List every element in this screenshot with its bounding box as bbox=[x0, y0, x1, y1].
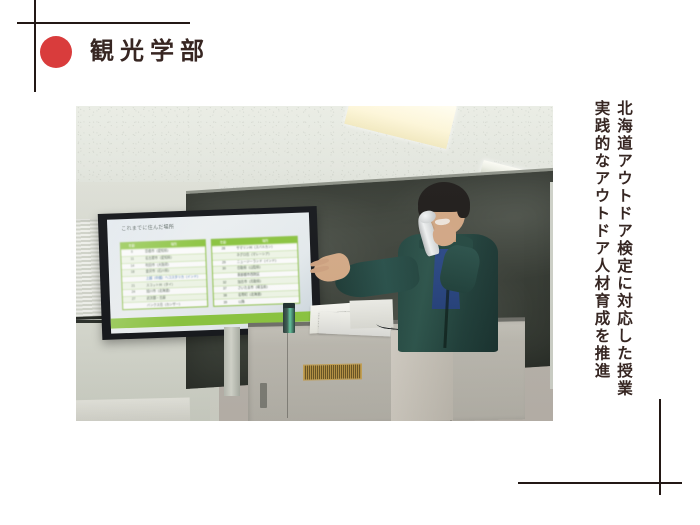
top-left-horizontal-rule bbox=[17, 22, 190, 24]
cell-year: 39 bbox=[214, 299, 236, 305]
top-left-vertical-rule bbox=[34, 0, 36, 92]
cell-place: バンクス島（カンザー） bbox=[145, 300, 207, 308]
screen-support-post bbox=[224, 327, 240, 396]
vertical-caption-block: 北海道アウトドア検定に対応した授業 実践的なアウトドア人材育成を推進 bbox=[586, 100, 631, 480]
lectern-door-handle bbox=[260, 383, 267, 408]
speaker bbox=[343, 175, 553, 351]
vertical-caption-line-2: 実践的なアウトドア人材育成を推進 bbox=[593, 100, 609, 380]
slide-tables: 年齢 場所 0 豊橋市（愛知県） 11 名古屋市（愛知県） 14 吹田市（大阪府… bbox=[120, 236, 300, 310]
projector-screen-surface: これまでに住んだ場所 年齢 場所 0 豊橋市（愛知県） 11 名古屋市（愛知県） bbox=[107, 213, 313, 334]
page-heading: 観光学部 bbox=[40, 36, 210, 68]
page-title: 観光学部 bbox=[90, 40, 210, 64]
red-circle-icon bbox=[40, 36, 72, 68]
lecture-hall-photo: これまでに住んだ場所 年齢 場所 0 豊橋市（愛知県） 11 名古屋市（愛知県） bbox=[76, 106, 553, 421]
speaker-hair bbox=[457, 195, 470, 218]
bottom-right-vertical-rule bbox=[659, 399, 661, 495]
slide-title: これまでに住んだ場所 bbox=[121, 223, 174, 232]
bottom-right-horizontal-rule bbox=[518, 482, 682, 484]
lectern-vent-grille bbox=[303, 364, 362, 382]
front-desk bbox=[76, 397, 191, 421]
cell-year bbox=[123, 303, 145, 309]
slide-table-right: 年齢 場所 28 サマリン州（スバルカン） ネグロ島（マレーシア） 29 ニュー… bbox=[211, 236, 300, 307]
water-bottle bbox=[283, 308, 295, 334]
vertical-caption-line-1: 北海道アウトドア検定に対応した授業 bbox=[616, 100, 632, 398]
lectern-panel-seam bbox=[287, 330, 288, 418]
slide-table-left: 年齢 場所 0 豊橋市（愛知県） 11 名古屋市（愛知県） 14 吹田市（大阪府… bbox=[120, 239, 209, 310]
